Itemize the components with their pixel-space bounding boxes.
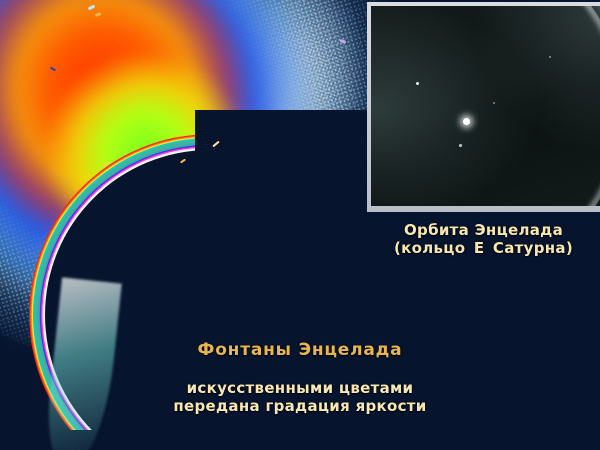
e-ring-letter-highlight: Е [471, 239, 488, 257]
photo-vignette [371, 6, 600, 206]
slide-canvas: Орбита Энцелада (кольцо Е Сатурна) Фонта… [0, 0, 600, 450]
inset-caption-line-2-after: Сатурна) [493, 239, 573, 257]
page-title: Фонтаны Энцелада [130, 340, 470, 361]
main-subtitle-line-1: искусственными цветами [130, 379, 470, 397]
inset-caption-line-2: (кольцо Е Сатурна) [367, 239, 600, 257]
inset-caption-line-2-before: (кольцо [394, 239, 465, 257]
inset-caption-line-1: Орбита Энцелада [367, 221, 600, 239]
main-subtitle: искусственными цветами передана градация… [130, 379, 470, 416]
e-ring-photo [371, 6, 600, 206]
inset-frame [367, 2, 600, 212]
main-subtitle-line-2: передана градация яркости [130, 397, 470, 415]
inset-caption: Орбита Энцелада (кольцо Е Сатурна) [367, 221, 600, 258]
